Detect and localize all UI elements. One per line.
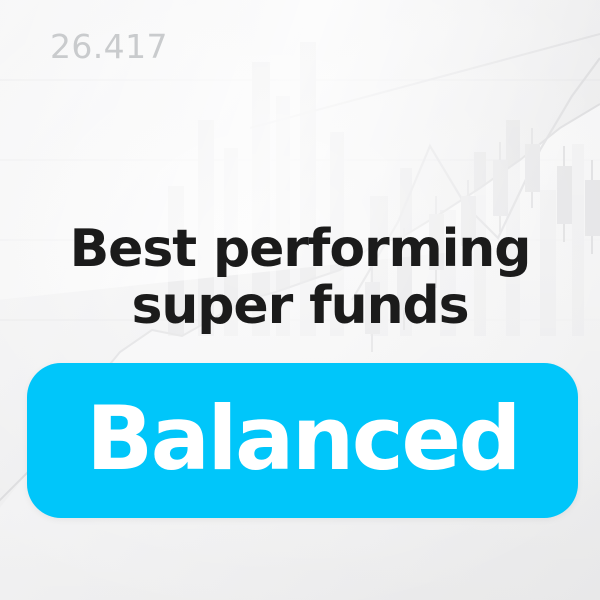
category-button-balanced[interactable]: Balanced xyxy=(27,363,578,518)
promo-card: 26.417 Best performing super funds Balan… xyxy=(0,0,600,600)
chart-area-series xyxy=(0,104,600,600)
category-button-label: Balanced xyxy=(86,395,519,483)
page-title: Best performing super funds xyxy=(0,221,600,335)
index-value-readout: 26.417 xyxy=(50,27,168,66)
chart-diagonal-trend xyxy=(250,34,600,128)
